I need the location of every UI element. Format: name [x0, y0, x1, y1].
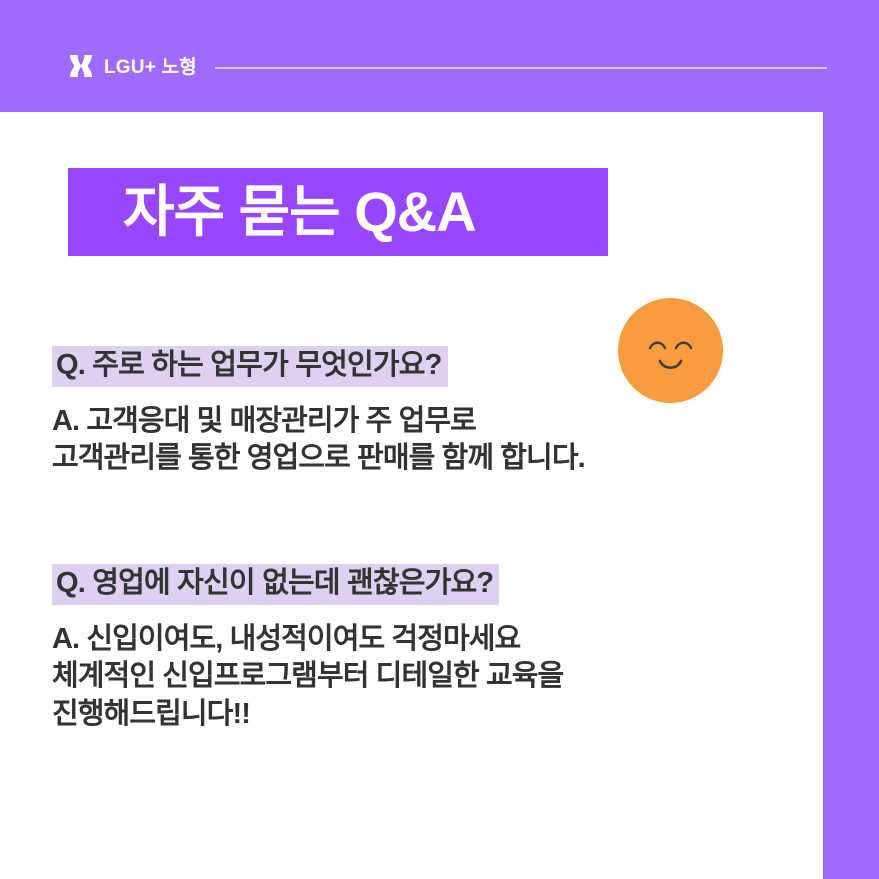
faq-answer-2-line-3: 진행해드립니다!!: [52, 696, 563, 733]
faq-answer-2-line-1: A. 신입이여도, 내성적이여도 걱정마세요: [52, 621, 563, 658]
faq-answer-2: A. 신입이여도, 내성적이여도 걱정마세요 체계적인 신입프로그램부터 디테일…: [52, 621, 563, 732]
faq-answer-2-line-2: 체계적인 신입프로그램부터 디테일한 교육을: [52, 658, 563, 695]
smiling-face-icon: [618, 298, 723, 403]
right-accent-strip: [823, 112, 879, 879]
faq-answer-1-line-1: A. 고객응대 및 매장관리가 주 업무로: [52, 403, 585, 440]
faq-answer-1: A. 고객응대 및 매장관리가 주 업무로 고객관리를 통한 영업으로 판매를 …: [52, 403, 585, 477]
header-divider-rule: [215, 67, 827, 69]
faq-card: LGU+ 노형 자주 묻는 Q&A Q. 주로 하는 업무가 무엇인가요? A.…: [0, 0, 879, 879]
faq-question-1: Q. 주로 하는 업무가 무엇인가요?: [52, 346, 448, 387]
faq-item-2: Q. 영업에 자신이 없는데 괜찮은가요? A. 신입이여도, 내성적이여도 걱…: [52, 564, 563, 733]
faq-item-1: Q. 주로 하는 업무가 무엇인가요? A. 고객응대 및 매장관리가 주 업무…: [52, 346, 585, 478]
lgu-x-logo-icon: [68, 53, 94, 79]
title-banner: 자주 묻는 Q&A: [68, 168, 608, 256]
header-band: LGU+ 노형: [0, 0, 879, 112]
page-title: 자주 묻는 Q&A: [123, 184, 476, 240]
brand-lockup: LGU+ 노형: [68, 52, 197, 79]
faq-answer-1-line-2: 고객관리를 통한 영업으로 판매를 함께 합니다.: [52, 440, 585, 477]
faq-question-2: Q. 영업에 자신이 없는데 괜찮은가요?: [52, 564, 499, 605]
brand-name: LGU+ 노형: [104, 52, 197, 79]
